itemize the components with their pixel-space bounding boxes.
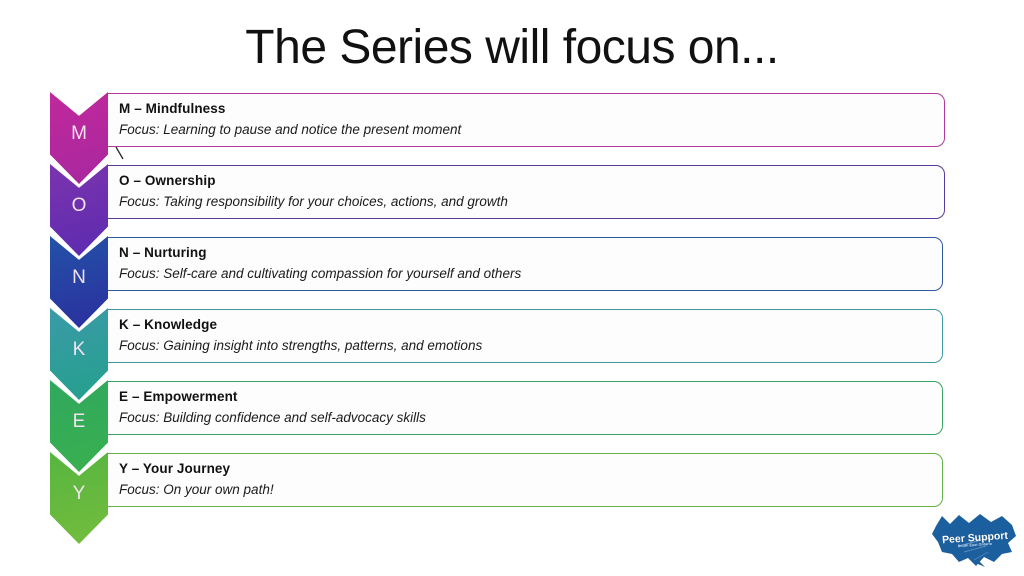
acronym-card-title: K – Knowledge — [119, 317, 942, 334]
acronym-card: O – OwnershipFocus: Taking responsibilit… — [108, 165, 945, 219]
acronym-card-focus: Focus: Self-care and cultivating compass… — [119, 265, 942, 283]
stray-ink-mark — [115, 146, 125, 160]
acronym-card-focus: Focus: Building confidence and self-advo… — [119, 409, 942, 427]
map-shape-icon — [928, 512, 1020, 570]
acronym-card-focus: Focus: Taking responsibility for your ch… — [119, 193, 944, 211]
acronym-card-focus: Focus: On your own path! — [119, 481, 942, 499]
chevron-letter: M — [50, 92, 108, 184]
acronym-card: K – KnowledgeFocus: Gaining insight into… — [108, 309, 943, 363]
acronym-card-focus: Focus: Gaining insight into strengths, p… — [119, 337, 942, 355]
peer-support-logo: Peer Support South East Ontario — [928, 512, 1020, 570]
acronym-card-title: N – Nurturing — [119, 245, 942, 262]
chevron-down-icon: M — [50, 92, 108, 184]
acronym-card: M – MindfulnessFocus: Learning to pause … — [108, 93, 945, 147]
acronym-card-title: O – Ownership — [119, 173, 944, 190]
acronym-card: E – EmpowermentFocus: Building confidenc… — [108, 381, 943, 435]
acronym-card-title: Y – Your Journey — [119, 461, 942, 478]
acronym-card: Y – Your JourneyFocus: On your own path! — [108, 453, 943, 507]
acronym-card: N – NurturingFocus: Self-care and cultiv… — [108, 237, 943, 291]
acronym-card-focus: Focus: Learning to pause and notice the … — [119, 121, 944, 139]
acronym-list: M – MindfulnessFocus: Learning to pause … — [0, 0, 1024, 576]
acronym-card-title: M – Mindfulness — [119, 101, 944, 118]
acronym-card-title: E – Empowerment — [119, 389, 942, 406]
